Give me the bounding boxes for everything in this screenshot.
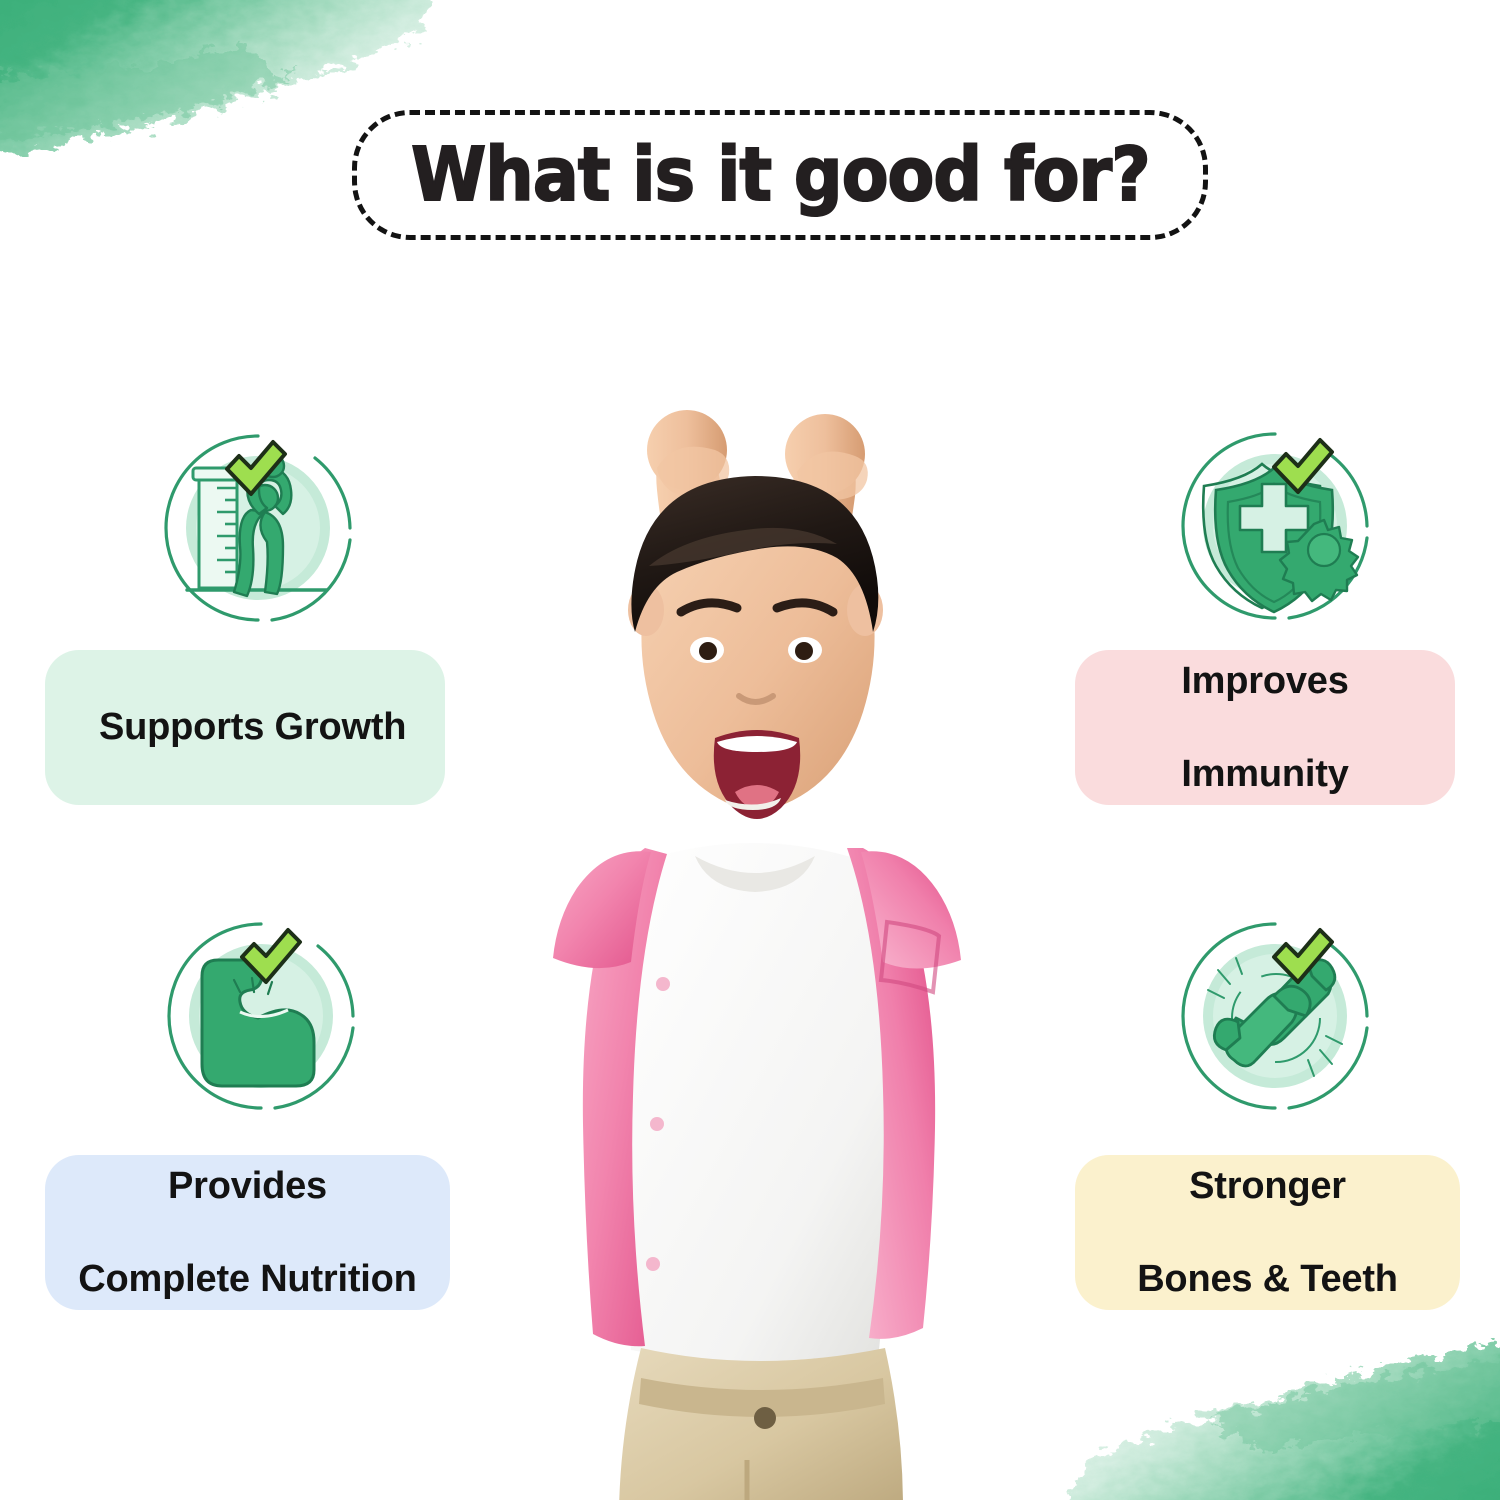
feature-label-supports-growth[interactable]: Supports Growth	[45, 650, 445, 805]
feature-label-provides-complete-nutrition[interactable]: Provides Complete Nutrition	[45, 1155, 450, 1310]
feature-label-text: Stronger Bones & Teeth	[1101, 1163, 1434, 1302]
growth-ruler-stretching-person-icon	[155, 420, 365, 630]
page-title: What is it good for?	[411, 132, 1150, 218]
feature-label-text: Improves Immunity	[1101, 658, 1429, 797]
happy-child-photo	[395, 300, 1115, 1500]
child-head	[628, 476, 883, 819]
shield-medical-cross-virus-icon	[1172, 418, 1382, 628]
benefits-infographic: What is it good for?	[0, 0, 1500, 1500]
white-tshirt	[619, 843, 890, 1361]
label-line-2: Immunity	[1101, 751, 1429, 797]
label-line-1: Improves	[1101, 658, 1429, 704]
feature-label-text: Provides Complete Nutrition	[71, 1163, 424, 1302]
feature-label-stronger-bones-teeth[interactable]: Stronger Bones & Teeth	[1075, 1155, 1460, 1310]
label-line-2: Bones & Teeth	[1101, 1256, 1434, 1302]
feature-label-text: Supports Growth	[71, 704, 419, 750]
label-line-1: Provides	[71, 1163, 424, 1209]
page-title-box: What is it good for?	[352, 110, 1208, 240]
label-line-2: Complete Nutrition	[71, 1256, 424, 1302]
label-line-1: Stronger	[1101, 1163, 1434, 1209]
feature-label-improves-immunity[interactable]: Improves Immunity	[1075, 650, 1455, 805]
bone-joint-icon	[1172, 908, 1382, 1118]
flexed-bicep-muscle-icon	[158, 908, 368, 1118]
